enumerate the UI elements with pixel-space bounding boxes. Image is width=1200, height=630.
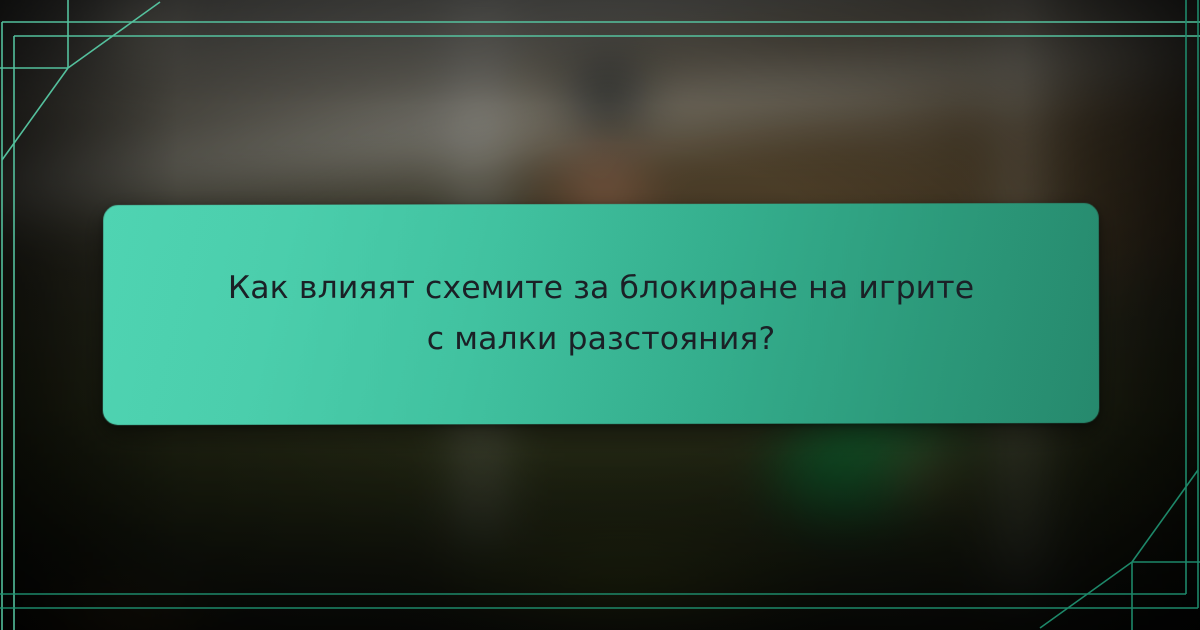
headline-text: Как влияят схемите за блокиране на игрит…	[103, 204, 1099, 424]
headline-card: Как влияят схемите за блокиране на игрит…	[103, 204, 1099, 424]
social-card-canvas: Как влияят схемите за блокиране на игрит…	[0, 0, 1200, 630]
headline-line-2: с малки разстояния?	[427, 314, 776, 365]
headline-line-1: Как влияят схемите за блокиране на игрит…	[228, 263, 974, 314]
